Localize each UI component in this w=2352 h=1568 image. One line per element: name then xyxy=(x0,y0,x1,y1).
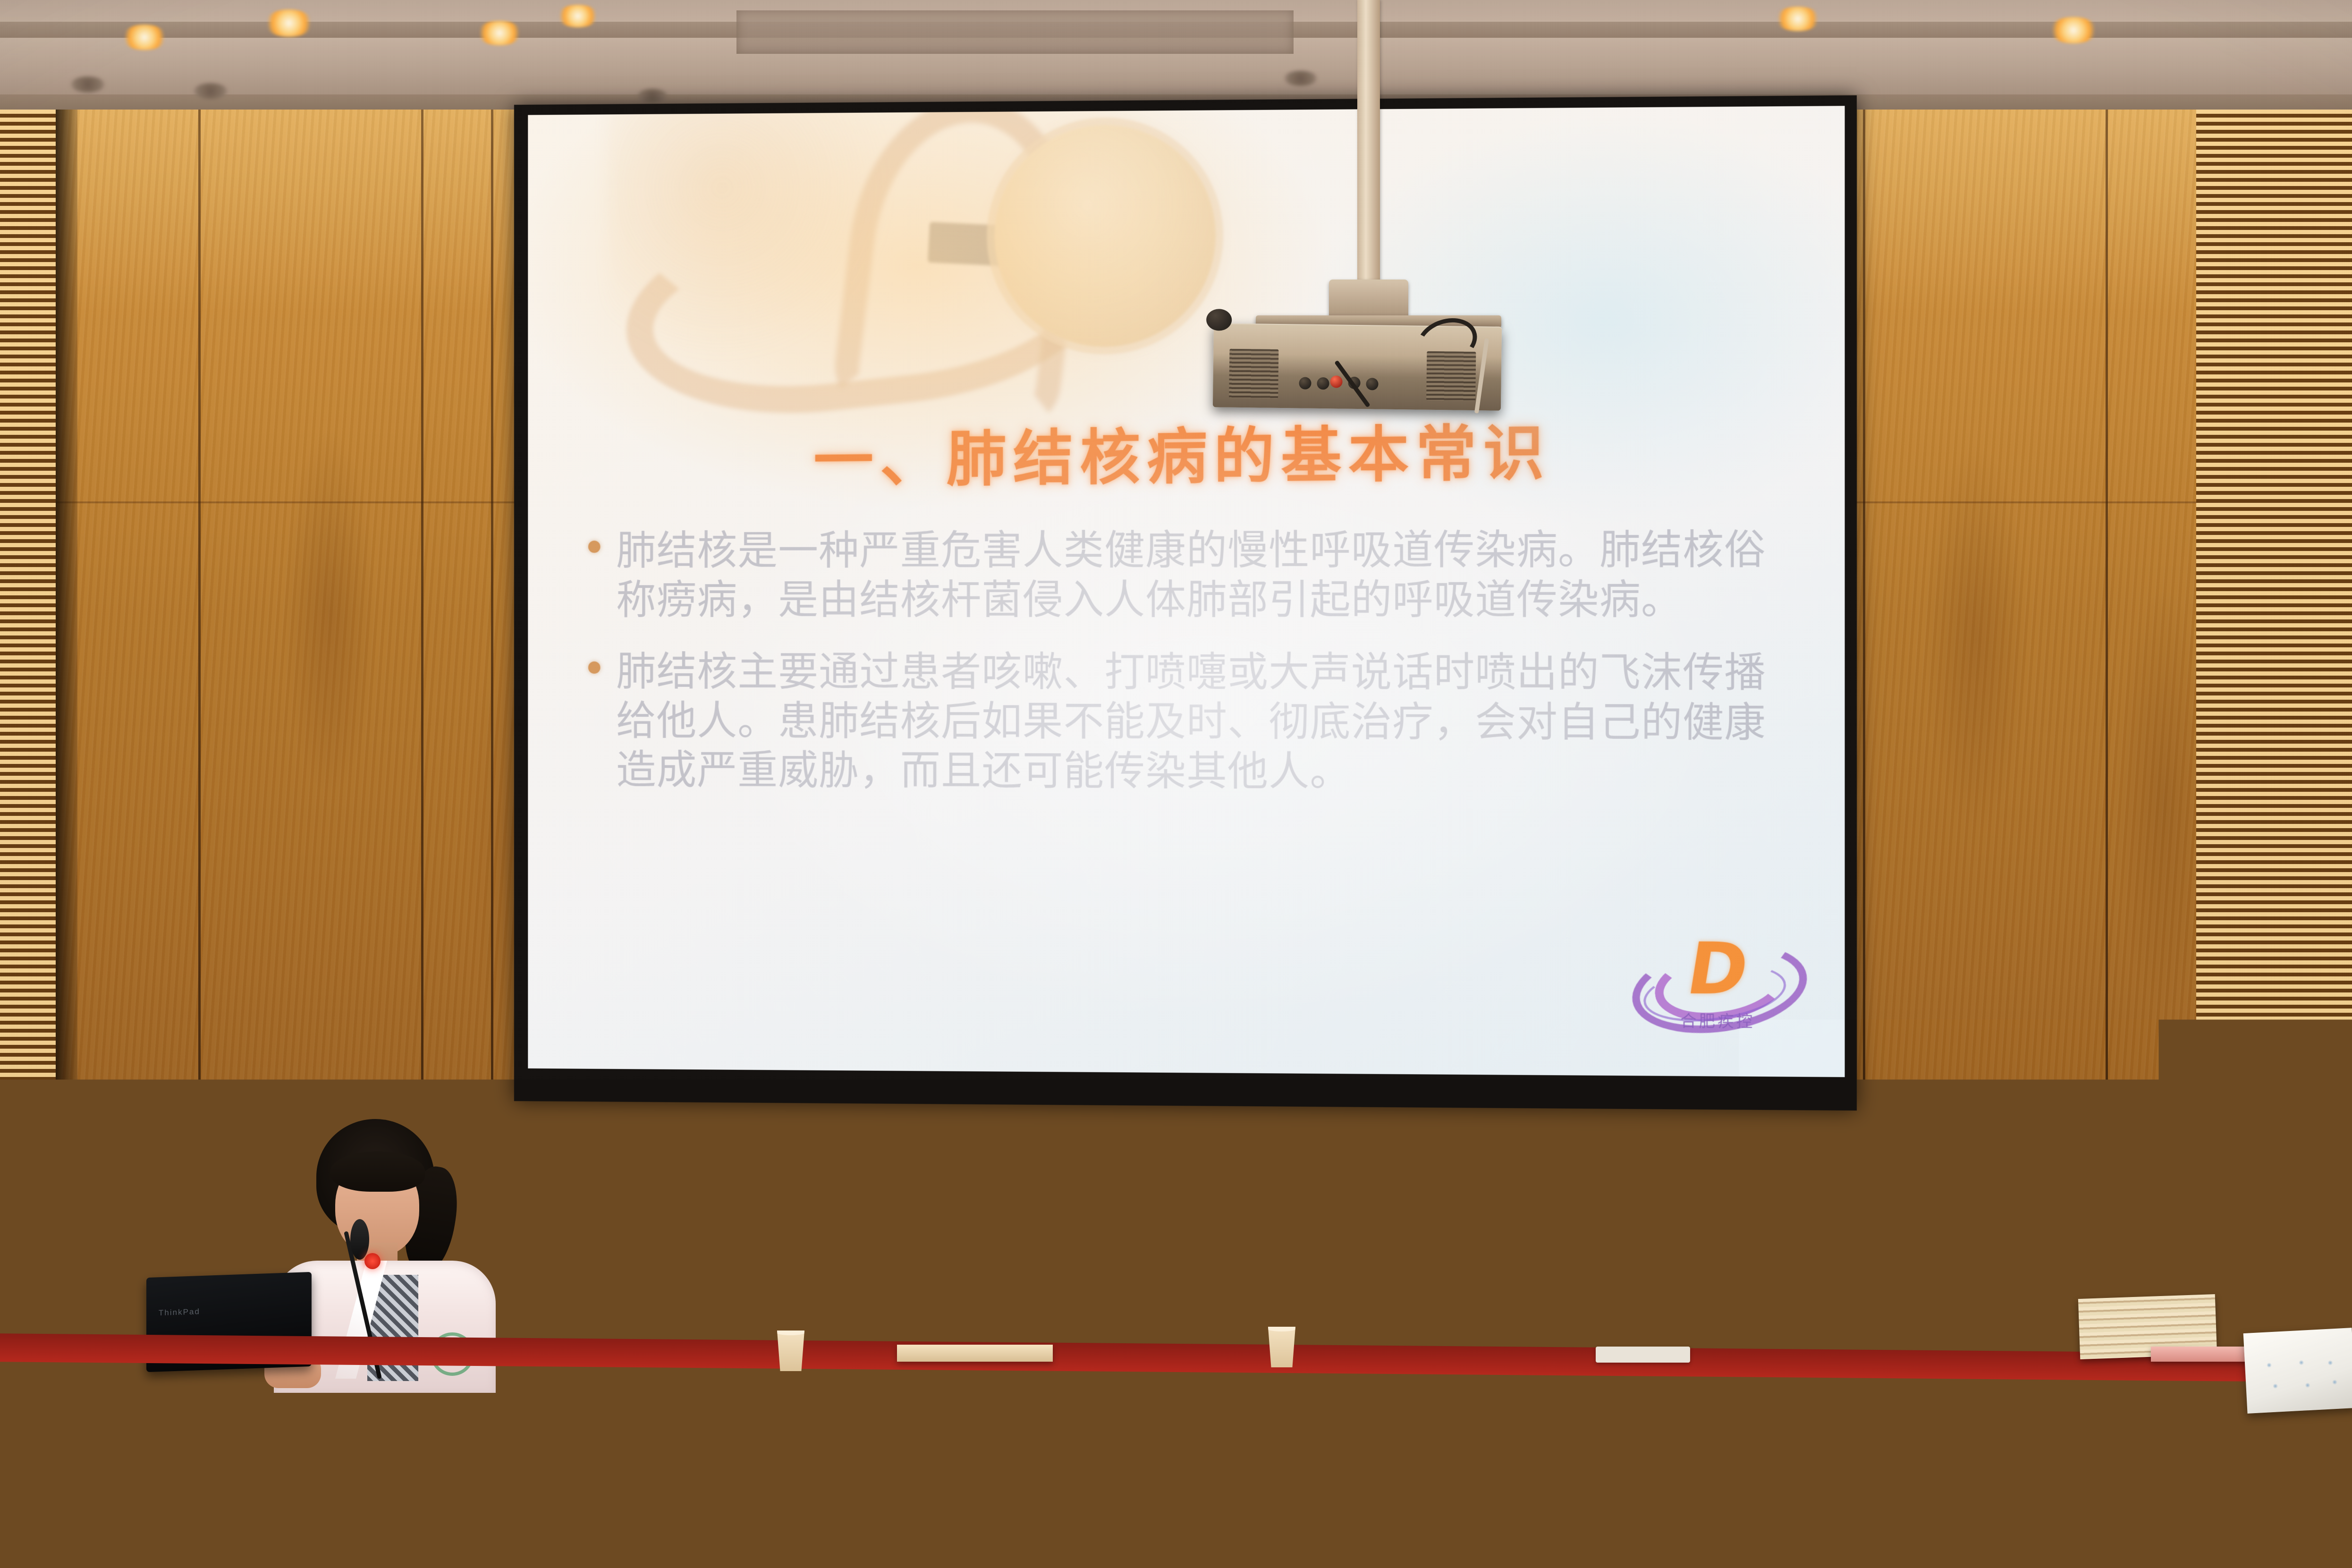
microphone-head xyxy=(350,1219,369,1260)
photo-canvas: 一、肺结核病的基本常识 肺结核是一种严重危害人类健康的慢性呼吸道传染病。肺结核俗… xyxy=(0,0,2352,1568)
table-flower xyxy=(64,1259,97,1292)
banner-main-text: 发挥领导力 终结结核病 xyxy=(42,1387,2309,1542)
microphone-head xyxy=(912,1225,931,1265)
stethoscope-diaphragm xyxy=(994,124,1216,347)
acoustic-slat-panel-right xyxy=(2196,110,2352,1365)
laptop-brand-mark: ThinkPad xyxy=(159,1307,200,1318)
ceiling-spotlight-on xyxy=(122,25,167,50)
projection-screen-frame: 一、肺结核病的基本常识 肺结核是一种严重危害人类健康的慢性呼吸道传染病。肺结核俗… xyxy=(514,95,1857,1110)
presenter-bangs xyxy=(330,1151,425,1192)
microphone-head xyxy=(1259,1238,1278,1279)
microphone-indicator-led xyxy=(364,1253,381,1269)
ceiling-spotlight-off xyxy=(71,76,105,93)
slide-title: 一、肺结核病的基本常识 xyxy=(528,400,1844,502)
panel-seam xyxy=(2106,110,2108,1365)
ceiling-spotlight-on xyxy=(477,21,522,45)
projection-screen: 一、肺结核病的基本常识 肺结核是一种严重危害人类健康的慢性呼吸道传染病。肺结核俗… xyxy=(528,106,1844,1077)
bullet-dot-icon xyxy=(588,541,601,553)
ceiling-spotlight-on xyxy=(557,5,599,27)
bullet-text: 肺结核主要通过患者咳嗽、打喷嚏或大声说话时喷出的飞沫传播给他人。患肺结核后如果不… xyxy=(616,647,1797,798)
projector-port xyxy=(1366,378,1378,390)
projector-port xyxy=(1330,375,1342,388)
bullet-dot-icon xyxy=(588,661,601,674)
panel-seam xyxy=(198,110,201,1365)
banner-sub-text: 3.24世界防治结核病日 xyxy=(1591,1522,2050,1568)
ceiling-spotlight-on xyxy=(264,9,313,37)
list-item: 肺结核是一种严重危害人类健康的慢性呼吸道传染病。肺结核俗称痨病，是由结核杆菌侵入… xyxy=(588,525,1797,626)
table-note xyxy=(1596,1347,1690,1363)
ceiling-spotlight-on xyxy=(1775,7,1820,31)
ceiling-spotlight-off xyxy=(1284,71,1317,86)
table-document xyxy=(897,1345,1053,1362)
list-item: 肺结核主要通过患者咳嗽、打喷嚏或大声说话时喷出的飞沫传播给他人。患肺结核后如果不… xyxy=(588,647,1797,798)
ceiling-spotlight-on xyxy=(2049,17,2098,43)
cdc-logo-letter: D xyxy=(1682,933,1753,1005)
slide-bullet-list: 肺结核是一种严重危害人类健康的慢性呼吸道传染病。肺结核俗称痨病，是由结核杆菌侵入… xyxy=(588,525,1797,821)
wall-shadow-edge xyxy=(56,110,77,1365)
projector-port xyxy=(1317,377,1329,390)
ceiling-spotlight-off xyxy=(637,89,668,103)
projector-mount-pole xyxy=(1357,0,1380,288)
projector-adjust-knob xyxy=(1206,309,1232,331)
ceiling-recess-panel xyxy=(736,10,1294,54)
ceiling-spotlight-off xyxy=(194,83,228,99)
bullet-text: 肺结核是一种严重危害人类健康的慢性呼吸道传染病。肺结核俗称痨病，是由结核杆菌侵入… xyxy=(616,525,1797,626)
projector-mount-bracket xyxy=(1329,280,1408,320)
projector-port xyxy=(1299,377,1311,389)
panel-seam xyxy=(1863,110,1865,1365)
acoustic-slat-panel-left xyxy=(0,110,56,1365)
projector-vent-left xyxy=(1229,349,1278,398)
cdc-logo: D 合肥疾控 xyxy=(1632,920,1794,1025)
cdc-logo-caption: 合肥疾控 xyxy=(1660,1008,1775,1032)
paper-cup xyxy=(1266,1327,1297,1367)
